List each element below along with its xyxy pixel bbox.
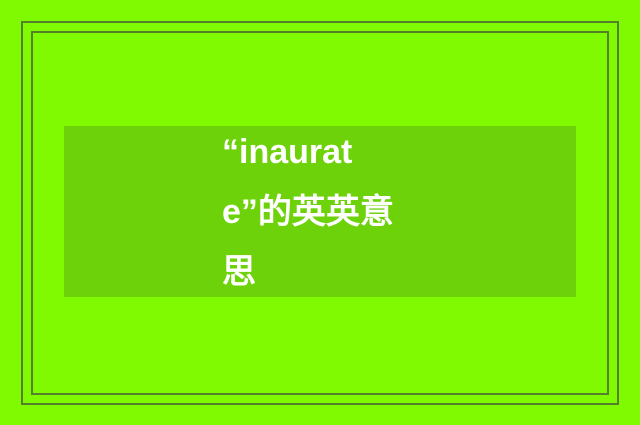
title-card-canvas: “inaurate”的英英意思 <box>0 0 640 425</box>
headline-panel: “inaurate”的英英意思 <box>64 126 576 297</box>
headline-text: “inaurate”的英英意思 <box>222 122 418 302</box>
